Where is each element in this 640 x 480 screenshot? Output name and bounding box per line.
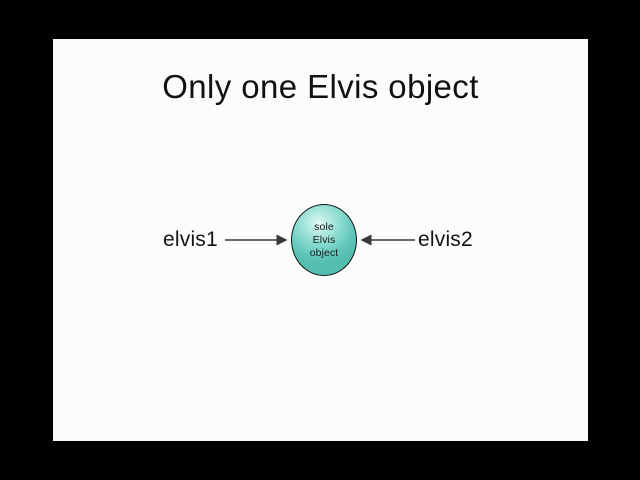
object-label-line-1: sole <box>314 221 334 234</box>
object-reference-diagram: circle (slide coords: x 172..238, y 201)… <box>53 39 588 441</box>
reference-label-elvis1: elvis1 <box>163 229 218 250</box>
sole-elvis-object-node: sole Elvis object <box>291 204 357 276</box>
object-label-line-3: object <box>310 247 339 260</box>
reference-label-elvis2: elvis2 <box>418 229 473 250</box>
video-viewport: Only one Elvis object circle (slide coor… <box>0 0 640 480</box>
slide-canvas: Only one Elvis object circle (slide coor… <box>53 39 588 441</box>
object-label-line-2: Elvis <box>313 234 336 247</box>
